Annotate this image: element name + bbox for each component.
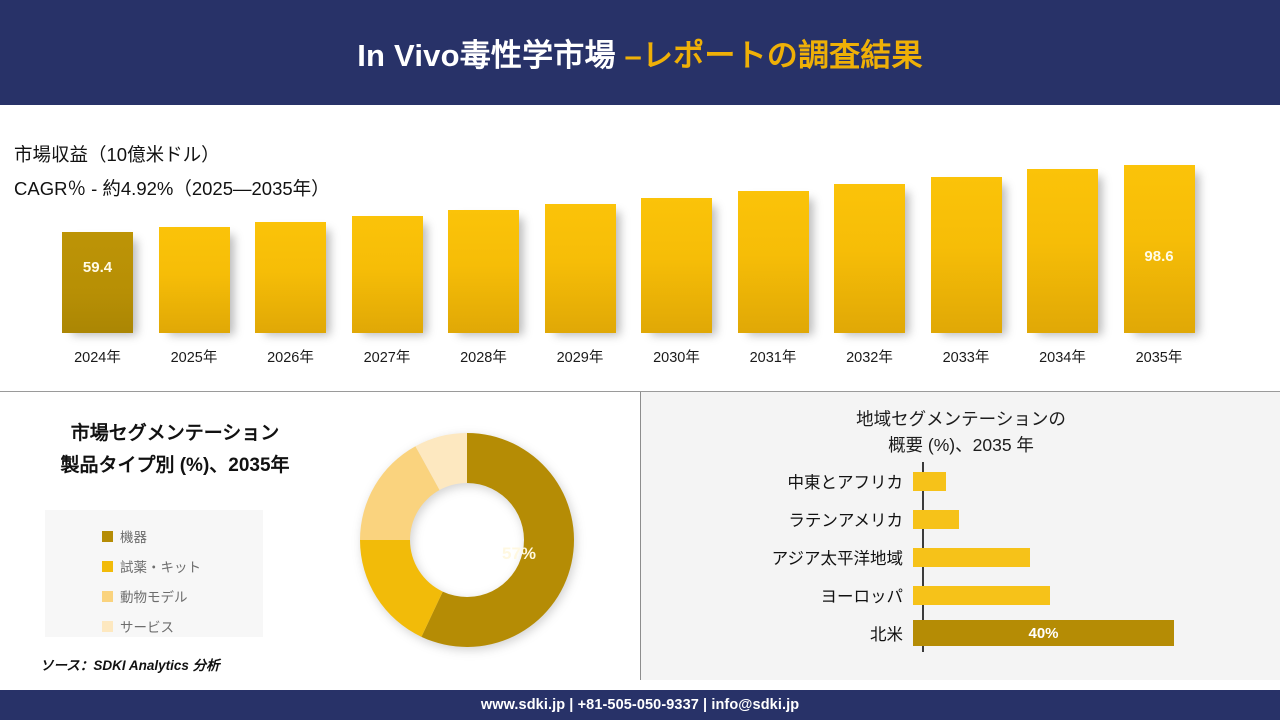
region-bar-row: ヨーロッパ [641,576,1280,614]
column-bar-group: 2027年 [352,216,423,333]
column-bar-value-label: 59.4 [62,259,133,276]
column-bar-group: 2030年 [641,198,712,333]
revenue-column-chart-panel: 市場収益（10億米ドル） CAGR％ - 約4.92%（2025―2035年） … [0,105,1280,392]
region-axis-label: 中東とアフリカ [641,469,913,493]
column-bar-group: 2025年 [159,227,230,333]
column-bar [448,210,519,333]
region-bar-row: アジア太平洋地域 [641,538,1280,576]
column-bar: 59.4 [62,232,133,333]
column-axis-label: 2030年 [641,346,712,367]
column-bar [834,184,905,333]
column-bar-group: 2028年 [448,210,519,333]
region-bar [913,472,946,491]
legend-swatch-icon [102,531,113,542]
region-bar-row: ラテンアメリカ [641,500,1280,538]
column-bar [641,198,712,333]
column-axis-label: 2026年 [255,346,326,367]
region-axis-label: ラテンアメリカ [641,507,913,531]
column-axis-label: 2034年 [1027,346,1098,367]
column-axis-label: 2027年 [352,346,423,367]
donut-title-line1: 市場セグメンテーション [0,418,350,450]
column-bar [931,177,1002,333]
page-title-accent: –レポートの調査結果 [625,38,923,73]
region-chart-title: 地域セグメンテーションの 概要 (%)、2035 年 [641,406,1280,458]
region-bar-row: 北米40% [641,614,1280,652]
column-bar-group: 98.62035年 [1124,165,1195,333]
column-bar-group: 2026年 [255,222,326,333]
legend-item-label: 動物モデル [120,586,188,606]
region-bar-panel: 地域セグメンテーションの 概要 (%)、2035 年 中東とアフリカラテンアメリ… [640,392,1280,680]
legend-item-label: 試薬・キット [120,556,201,576]
footer-contact-text: www.sdki.jp | +81-505-050-9337 | info@sd… [481,697,799,713]
column-bar-group: 2032年 [834,184,905,333]
region-bar [913,510,959,529]
donut-chart-title: 市場セグメンテーション 製品タイプ別 (%)、2035年 [0,418,350,482]
region-bar-row: 中東とアフリカ [641,462,1280,500]
region-bar-value-label: 40% [913,620,1174,646]
column-bar [545,204,616,333]
region-title-line1: 地域セグメンテーションの [641,406,1280,432]
donut-title-line2: 製品タイプ別 (%)、2035年 [0,450,350,482]
legend-swatch-icon [102,591,113,602]
column-bar-value-label: 98.6 [1124,248,1195,265]
column-axis-label: 2033年 [931,346,1002,367]
donut-chart: 57% [335,416,600,668]
legend-item-label: 機器 [120,526,147,546]
legend-swatch-icon [102,561,113,572]
column-axis-label: 2031年 [738,346,809,367]
page-footer: www.sdki.jp | +81-505-050-9337 | info@sd… [0,690,1280,720]
column-axis-label: 2024年 [62,346,133,367]
column-chart-plot-area: 59.42024年2025年2026年2027年2028年2029年2030年2… [0,105,1280,392]
column-bar-group: 2029年 [545,204,616,333]
region-axis-label: 北米 [641,621,913,645]
column-bar-group: 59.42024年 [62,232,133,333]
column-axis-label: 2035年 [1124,346,1195,367]
donut-highlight-label: 57% [502,544,536,564]
column-bar-group: 2033年 [931,177,1002,333]
column-bar-group: 2031年 [738,191,809,333]
region-bar [913,586,1050,605]
region-bar [913,548,1030,567]
donut-legend: 機器試薬・キット動物モデルサービス [45,510,263,637]
column-bar-group: 2034年 [1027,169,1098,333]
region-chart-plot-area: 中東とアフリカラテンアメリカアジア太平洋地域ヨーロッパ北米40% [641,460,1280,668]
legend-item-label: サービス [120,616,174,636]
column-axis-label: 2029年 [545,346,616,367]
column-bar [255,222,326,333]
page-title-main: In Vivo毒性学市場 [357,38,624,73]
page-title: In Vivo毒性学市場 –レポートの調査結果 [357,30,923,75]
legend-item[interactable]: 機器 [102,521,263,551]
column-bar [738,191,809,333]
column-bar [1027,169,1098,333]
region-title-line2: 概要 (%)、2035 年 [641,432,1280,458]
column-bar: 98.6 [1124,165,1195,333]
segmentation-donut-panel: 市場セグメンテーション 製品タイプ別 (%)、2035年 機器試薬・キット動物モ… [0,392,640,680]
legend-item[interactable]: 試薬・キット [102,551,263,581]
legend-item[interactable]: サービス [102,611,263,641]
page-header: In Vivo毒性学市場 –レポートの調査結果 [0,0,1280,105]
donut-chart-svg [335,416,600,668]
column-axis-label: 2025年 [159,346,230,367]
region-axis-label: アジア太平洋地域 [641,545,913,569]
region-bar: 40% [913,620,1174,646]
column-bar [159,227,230,333]
region-axis-label: ヨーロッパ [641,583,913,607]
column-axis-label: 2032年 [834,346,905,367]
column-axis-label: 2028年 [448,346,519,367]
legend-item[interactable]: 動物モデル [102,581,263,611]
legend-swatch-icon [102,621,113,632]
column-bar [352,216,423,333]
source-note: ソース：SDKI Analytics 分析 [40,654,220,674]
